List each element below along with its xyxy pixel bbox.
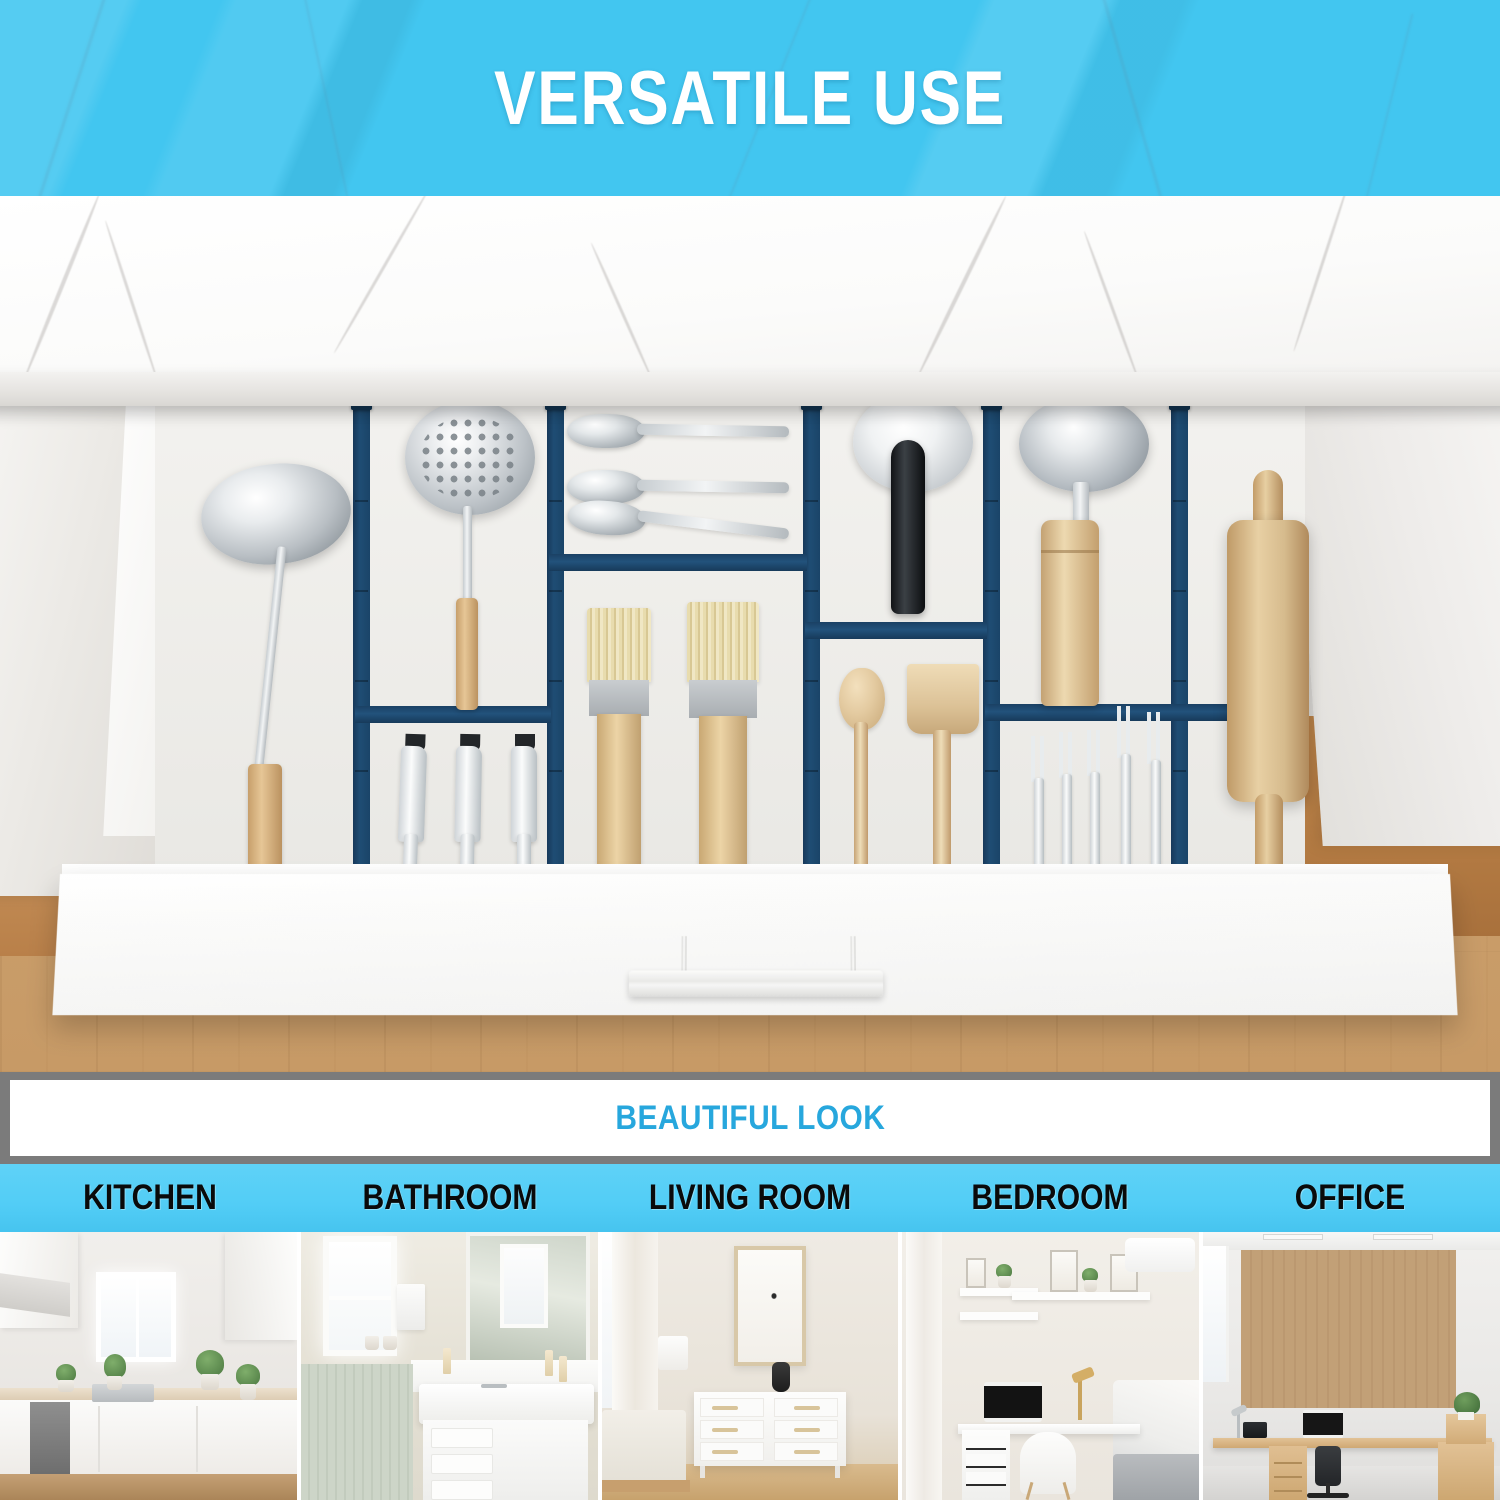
- divider-vertical[interactable]: [547, 380, 564, 886]
- skimmer-head: [405, 400, 535, 515]
- bedroom-monitor: [984, 1382, 1042, 1422]
- divider-horizontal[interactable]: [549, 554, 807, 571]
- marble-countertop: [0, 196, 1500, 392]
- bathroom-vanity-cabinet: [423, 1420, 588, 1500]
- plant-pot: [1084, 1280, 1097, 1292]
- bedroom-pillow: [1125, 1238, 1195, 1272]
- room-photo-bathroom: [301, 1232, 598, 1500]
- living-room-framed-art: [734, 1246, 806, 1366]
- fork: [1147, 712, 1165, 884]
- room-label-kitchen: KITCHEN: [21, 1164, 279, 1232]
- pizza-cutter-handle: [891, 440, 925, 614]
- ladle-bowl: [1019, 396, 1149, 492]
- bathroom-sink: [419, 1384, 594, 1424]
- wooden-spoon-handle: [854, 722, 868, 884]
- bedroom-wall-shelf: [960, 1312, 1038, 1320]
- handle-post-right: [850, 936, 855, 970]
- pastry-brush: [583, 608, 655, 888]
- wooden-spatula-handle: [933, 730, 951, 884]
- butter-knife: [511, 734, 537, 884]
- divider-vertical[interactable]: [1171, 380, 1188, 886]
- beautiful-look-label: BEAUTIFUL LOOK: [615, 1099, 885, 1138]
- room-label-bedroom: BEDROOM: [921, 1164, 1179, 1232]
- bathroom-mirror-reflection-window: [500, 1244, 548, 1328]
- room-photo-living-room: [602, 1232, 899, 1500]
- fork: [1059, 732, 1075, 884]
- office-cabinet: [1438, 1442, 1494, 1500]
- wooden-spoon-head: [839, 668, 885, 730]
- office-window: [1203, 1246, 1229, 1382]
- beautiful-look-inner: BEAUTIFUL LOOK: [10, 1080, 1490, 1156]
- bedroom-drawer-unit: [962, 1430, 1010, 1500]
- office-ceiling-light: [1263, 1234, 1323, 1240]
- pastry-brush: [683, 602, 763, 888]
- rolling-pin-body: [1227, 520, 1309, 802]
- bedroom-blanket: [1113, 1454, 1199, 1500]
- office-wood-panel-wall: [1241, 1248, 1456, 1408]
- butter-knife: [396, 734, 427, 885]
- office-desk-pedestal: [1269, 1446, 1307, 1500]
- office-ceiling-light: [1373, 1234, 1433, 1240]
- divider-vertical[interactable]: [353, 380, 370, 886]
- room-photo-kitchen: [0, 1232, 297, 1500]
- plant-icon: [236, 1364, 260, 1386]
- office-ceiling: [1203, 1232, 1500, 1250]
- plant-icon: [196, 1350, 224, 1376]
- soup-ladle-handle: [248, 764, 282, 874]
- beautiful-look-band: BEAUTIFUL LOOK: [0, 1072, 1500, 1164]
- room-label-bathroom: BATHROOM: [321, 1164, 579, 1232]
- plant-pot: [201, 1374, 219, 1390]
- fork: [1031, 736, 1047, 884]
- room-labels-strip: KITCHEN BATHROOM LIVING ROOM BEDROOM OFF…: [0, 1164, 1500, 1232]
- office-lamp-stem: [1237, 1412, 1240, 1438]
- office-chair-base: [1307, 1493, 1349, 1498]
- office-laptop: [1243, 1422, 1267, 1438]
- fork: [1117, 706, 1135, 884]
- marble-vein: [14, 0, 110, 196]
- framed-art-branch-illustration: [756, 1276, 792, 1316]
- soap-bottle: [443, 1348, 451, 1374]
- plant-pot: [58, 1380, 74, 1392]
- office-chair-back: [1315, 1446, 1341, 1486]
- kitchen-upper-cabinet-right: [225, 1232, 297, 1340]
- room-label-office: OFFICE: [1221, 1164, 1479, 1232]
- header-banner: VERSATILE USE: [0, 0, 1500, 196]
- bathroom-cup: [365, 1336, 379, 1350]
- soap-bottle: [545, 1350, 553, 1376]
- room-photo-bedroom: [902, 1232, 1199, 1500]
- room-photos-row: [0, 1232, 1500, 1500]
- fork: [1087, 730, 1103, 884]
- bedroom-wall-shelf: [1012, 1292, 1150, 1300]
- room-label-living-room: LIVING ROOM: [621, 1164, 879, 1232]
- living-room-sofa-base: [602, 1480, 690, 1492]
- hero-drawer-photo: [0, 196, 1500, 1072]
- drawer-interior: [155, 386, 1305, 886]
- kitchen-floor: [0, 1474, 297, 1500]
- floor-lamp-shade: [658, 1336, 688, 1370]
- kitchen-sink: [92, 1384, 154, 1402]
- serving-spoon: [567, 414, 791, 450]
- skimmer-handle: [456, 598, 478, 710]
- bathroom-faucet: [481, 1384, 507, 1388]
- bedroom-chair: [1020, 1432, 1076, 1494]
- header-title: VERSATILE USE: [135, 0, 1365, 196]
- bathroom-cup: [383, 1336, 397, 1350]
- bedroom-curtain: [906, 1232, 942, 1500]
- divider-horizontal[interactable]: [355, 706, 551, 723]
- plant-pot: [1458, 1412, 1474, 1420]
- bedroom-desk-lamp-stem: [1078, 1376, 1082, 1420]
- kitchen-oven: [30, 1402, 70, 1476]
- living-room-vase: [772, 1362, 790, 1392]
- countertop-edge: [0, 372, 1500, 406]
- butter-knife: [454, 734, 483, 884]
- living-room-sofa: [602, 1410, 686, 1484]
- plant-pot: [998, 1276, 1011, 1288]
- handle-post-left: [681, 936, 686, 970]
- plant-pot: [240, 1384, 256, 1400]
- living-room-dresser: [694, 1392, 846, 1466]
- office-monitor: [1303, 1410, 1343, 1438]
- soap-bottle: [559, 1356, 567, 1382]
- room-photo-office: [1203, 1232, 1500, 1500]
- divider-horizontal[interactable]: [805, 622, 987, 639]
- skimmer-holes: [419, 416, 521, 500]
- plant-icon: [1454, 1392, 1480, 1414]
- drawer-pull-handle[interactable]: [629, 970, 883, 996]
- wooden-spatula-head: [907, 664, 979, 734]
- plant-pot: [107, 1376, 122, 1390]
- bedroom-picture-frame: [1050, 1250, 1078, 1292]
- drawer-front-panel[interactable]: [52, 874, 1457, 1015]
- bathroom-towel: [397, 1284, 425, 1330]
- bathroom-wainscot-panel: [301, 1364, 413, 1500]
- plant-icon: [104, 1354, 126, 1378]
- kitchen-window: [96, 1272, 176, 1362]
- wooden-pestle: [1041, 520, 1099, 706]
- bedroom-picture-frame: [966, 1258, 986, 1288]
